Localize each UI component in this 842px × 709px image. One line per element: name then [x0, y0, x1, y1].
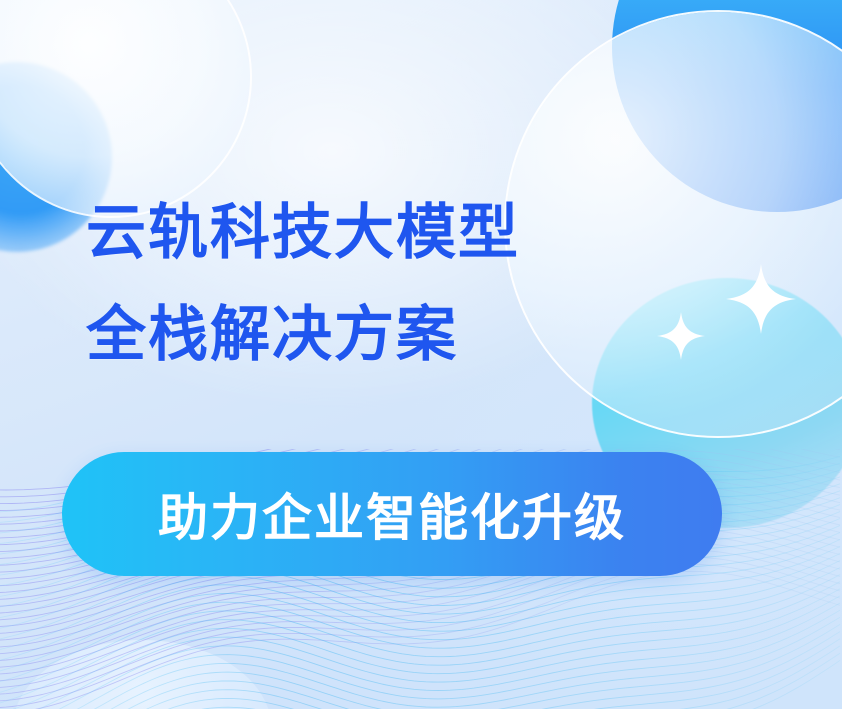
sparkle-icon	[657, 312, 705, 360]
tagline-badge: 助力企业智能化升级	[62, 452, 722, 576]
headline-line-1: 云轨科技大模型	[86, 182, 520, 284]
sparkle-icon	[726, 264, 796, 334]
headline-line-2: 全栈解决方案	[86, 284, 520, 386]
tagline-badge-label: 助力企业智能化升级	[158, 478, 626, 550]
promo-banner: 云轨科技大模型 全栈解决方案 助力企业智能化升级	[0, 0, 842, 709]
headline: 云轨科技大模型 全栈解决方案	[86, 182, 520, 386]
